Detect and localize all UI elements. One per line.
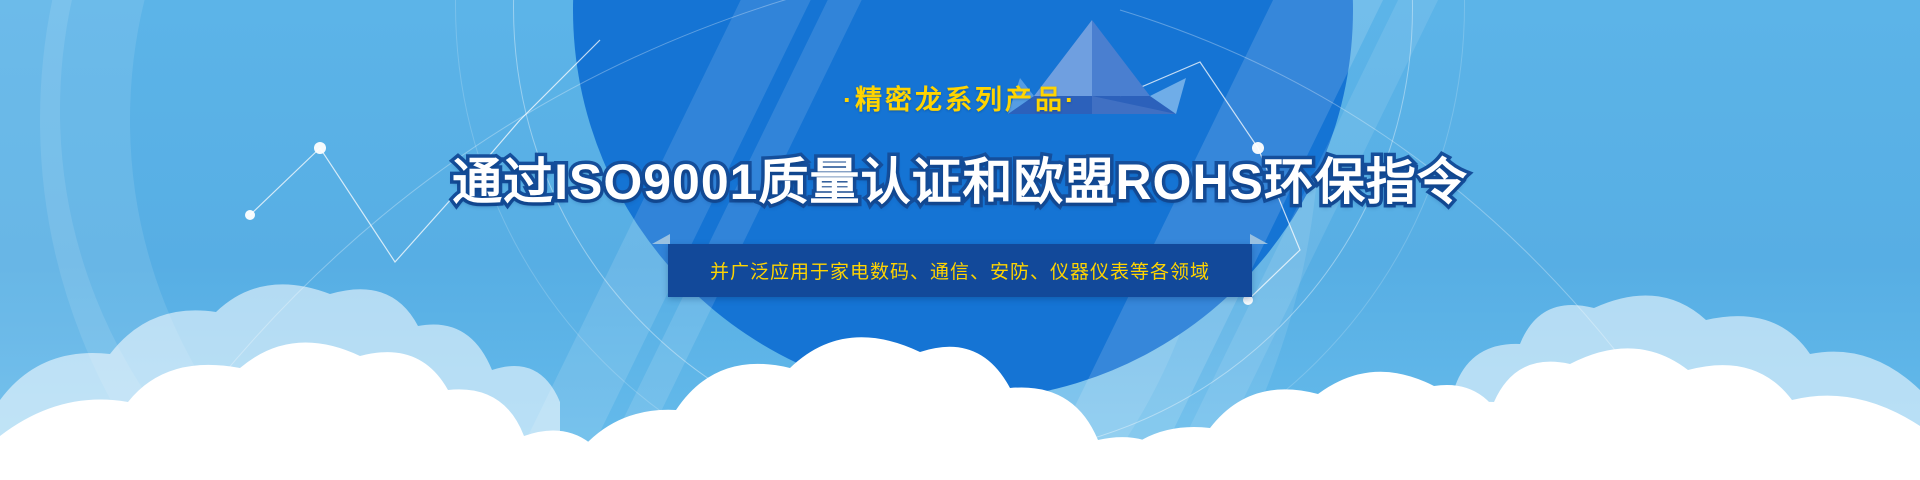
banner-content: ·精密龙系列产品· 通过ISO9001质量认证和欧盟ROHS环保指令 并广泛应用… [0,0,1920,480]
ribbon-container: 并广泛应用于家电数码、通信、安防、仪器仪表等各领域 [668,244,1252,297]
ribbon-fold-right-icon [1250,234,1268,244]
page-title: 通过ISO9001质量认证和欧盟ROHS环保指令 [452,142,1468,214]
ribbon-text: 并广泛应用于家电数码、通信、安防、仪器仪表等各领域 [668,244,1252,297]
promo-banner: ·精密龙系列产品· 通过ISO9001质量认证和欧盟ROHS环保指令 并广泛应用… [0,0,1920,480]
eyebrow-text: ·精密龙系列产品· [843,78,1077,117]
ribbon-fold-left-icon [652,234,670,244]
